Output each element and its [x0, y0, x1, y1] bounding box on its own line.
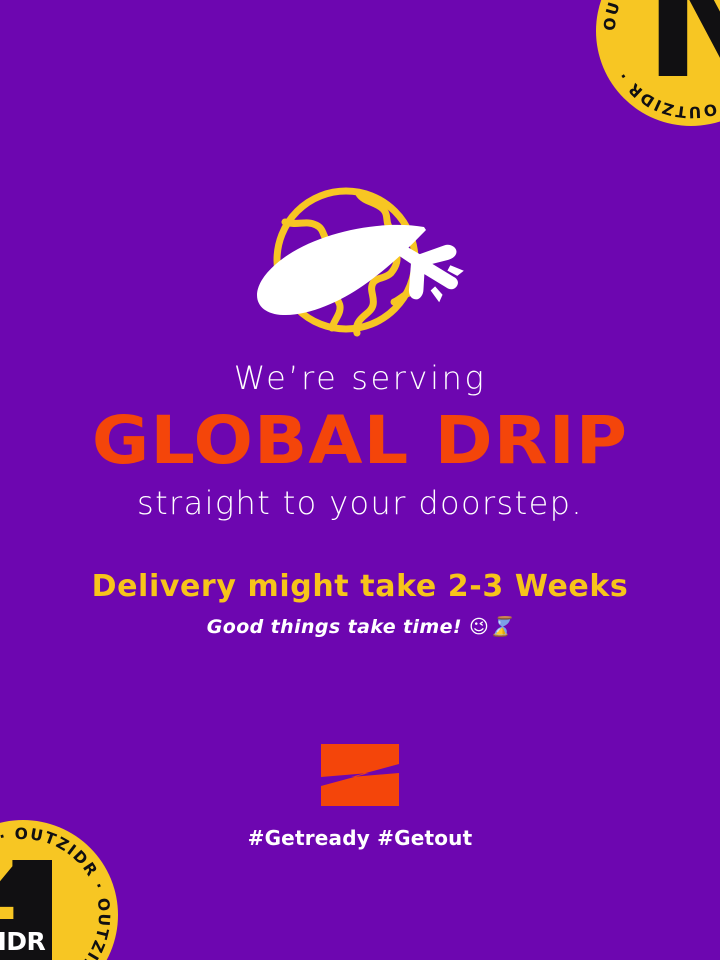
- hashtags-text: #Getready #Getout: [0, 825, 720, 851]
- subline-text: straight to your doorstep.: [0, 482, 720, 524]
- eyebrow-text: We’re serving: [0, 358, 720, 398]
- globe-airplane-illustration: [228, 178, 492, 343]
- z-logo-icon: [321, 744, 399, 806]
- reassurance-text: Good things take time! 😉⌛: [0, 614, 720, 640]
- headline-text: GLOBAL DRIP: [0, 404, 720, 478]
- poster-copy: We’re serving GLOBAL DRIP straight to yo…: [0, 358, 720, 640]
- outzidr-badge-top-right: OUTZIDR · OUTZIDR · OUTZIDR · OUTZIDR · …: [596, 0, 720, 126]
- badge-z-mark: Z: [0, 858, 52, 922]
- poster-footer: #Getready #Getout: [0, 744, 720, 851]
- delivery-notice-text: Delivery might take 2-3 Weeks: [0, 568, 720, 606]
- promo-poster: OUTZIDR · OUTZIDR · OUTZIDR · OUTZIDR · …: [0, 0, 720, 960]
- badge-letter-top-right: N: [644, 0, 720, 96]
- badge-wordmark: OUTZIDR: [0, 928, 54, 956]
